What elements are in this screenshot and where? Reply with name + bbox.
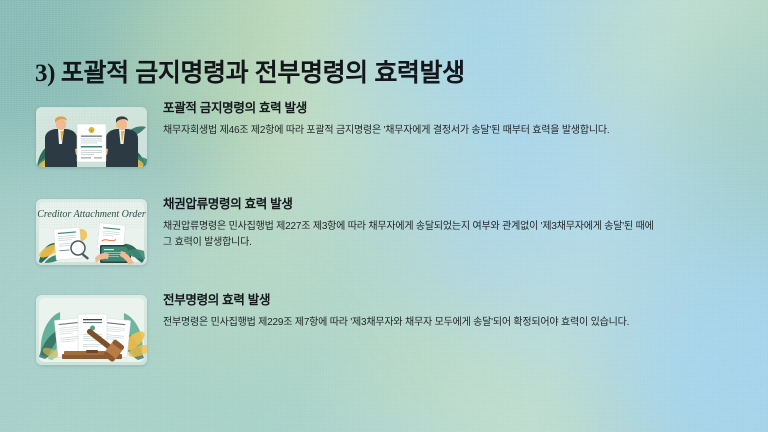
item-heading: 채권압류명령의 효력 발생 (163, 197, 729, 212)
item-text-block: 전부명령의 효력 발생 전부명령은 민사집행법 제229조 제7항에 따라 '제… (163, 293, 729, 331)
item-text-block: 채권압류명령의 효력 발생 채권압류명령은 민사집행법 제227조 제3항에 따… (163, 197, 729, 251)
gavel-documents-icon (36, 295, 147, 365)
page-title-text: 포괄적 금지명령과 전부명령의 효력발생 (61, 59, 465, 87)
svg-text:§: § (91, 129, 93, 133)
item-body: 전부명령은 민사집행법 제229조 제7항에 따라 '제3채무자와 채무자 모두… (163, 315, 723, 331)
handshake-document-illustration: § (36, 107, 147, 167)
creditor-attachment-order-illustration: Creditor Attachment Order (36, 199, 147, 265)
handshake-document-icon: § (36, 107, 147, 167)
slide-content: 3) 포괄적 금지명령과 전부명령의 효력발생 (0, 0, 768, 432)
item-text-block: 포괄적 금지명령의 효력 발생 채무자회생법 제46조 제2항에 따라 포괄적 … (163, 101, 729, 139)
page-title-number: 3) (35, 60, 61, 87)
page-title: 3) 포괄적 금지명령과 전부명령의 효력발생 (35, 53, 465, 89)
item-body: 채권압류명령은 민사집행법 제227조 제3항에 따라 채무자에게 송달되었는지… (163, 219, 663, 251)
item-heading: 포괄적 금지명령의 효력 발생 (163, 101, 729, 116)
item-heading: 전부명령의 효력 발생 (163, 293, 729, 308)
thumbnail-caption: Creditor Attachment Order (37, 209, 146, 220)
item-body: 채무자회생법 제46조 제2항에 따라 포괄적 금지명령은 '채무자에게 결정서… (163, 123, 723, 139)
creditor-attachment-order-icon: Creditor Attachment Order (36, 199, 147, 265)
gavel-documents-illustration (36, 295, 147, 365)
